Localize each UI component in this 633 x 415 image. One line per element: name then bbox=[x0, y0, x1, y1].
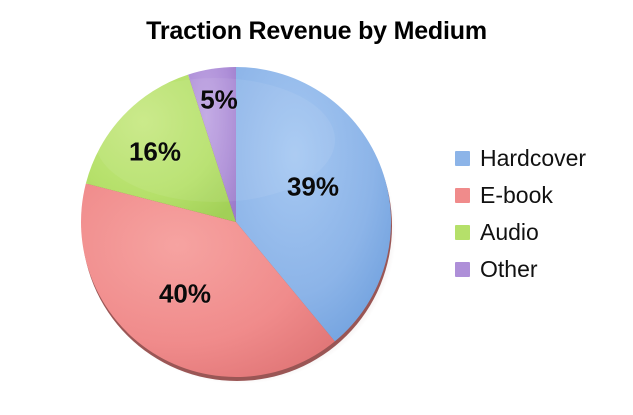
legend-item-e-book[interactable]: E-book bbox=[455, 177, 633, 214]
square-swatch-icon bbox=[455, 188, 470, 203]
legend-item-label: E-book bbox=[480, 184, 553, 207]
legend-item-label: Other bbox=[480, 258, 538, 281]
slice-label-other: 5% bbox=[200, 85, 238, 116]
pie-chart-figure: Traction Revenue by Medium bbox=[0, 0, 633, 415]
legend-item-label: Audio bbox=[480, 221, 539, 244]
pie-plot-area: 39% 40% 16% 5% bbox=[0, 0, 460, 415]
pie-graphic bbox=[0, 0, 460, 415]
square-swatch-icon bbox=[455, 151, 470, 166]
slice-label-e-book: 40% bbox=[159, 279, 211, 310]
square-swatch-icon bbox=[455, 225, 470, 240]
legend-item-audio[interactable]: Audio bbox=[455, 214, 633, 251]
legend-item-hardcover[interactable]: Hardcover bbox=[455, 140, 633, 177]
legend-item-other[interactable]: Other bbox=[455, 251, 633, 288]
slice-label-audio: 16% bbox=[129, 137, 181, 168]
slice-label-hardcover: 39% bbox=[287, 172, 339, 203]
chart-legend: Hardcover E-book Audio Other bbox=[455, 140, 633, 288]
legend-item-label: Hardcover bbox=[480, 147, 586, 170]
square-swatch-icon bbox=[455, 262, 470, 277]
